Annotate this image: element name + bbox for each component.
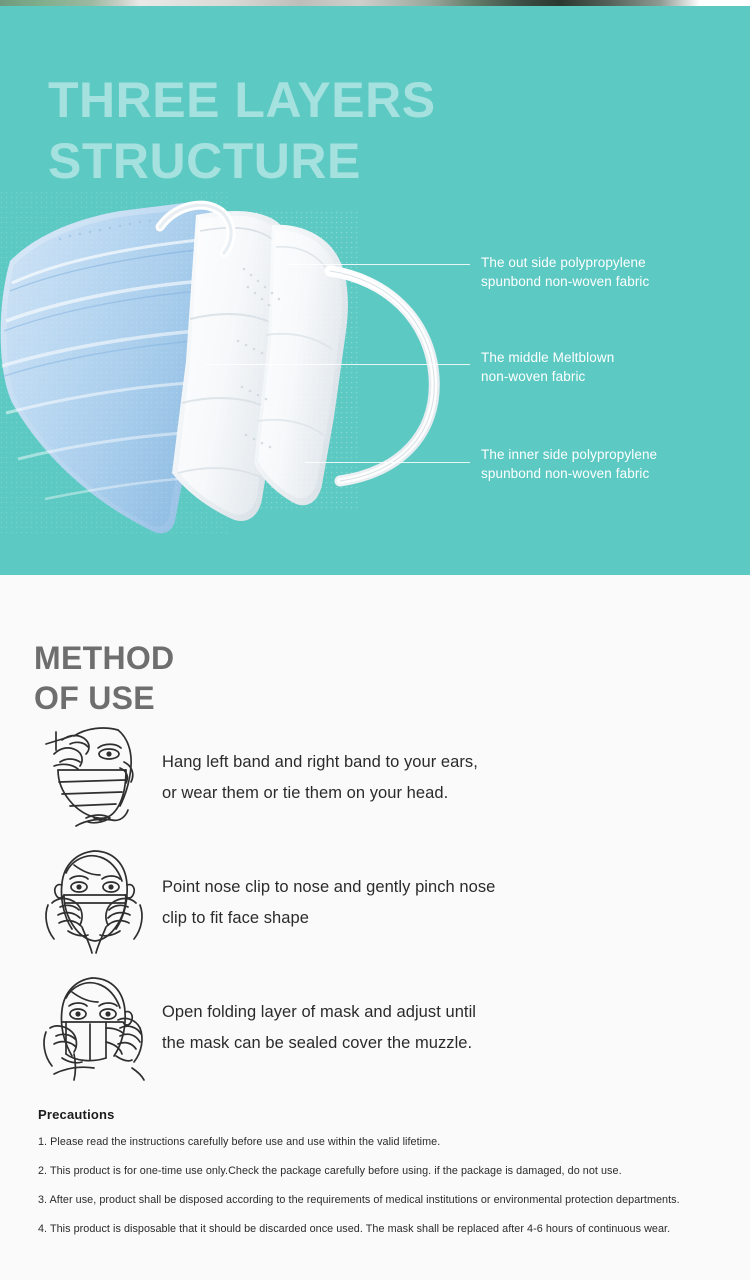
method-step: Point nose clip to nose and gently pinch… [0, 840, 750, 965]
method-of-use-section: METHOD OF USE [0, 575, 750, 1280]
method-step-text: Open folding layer of mask and adjust un… [162, 997, 476, 1058]
leader-line-outer-layer [288, 264, 470, 265]
method-step: Open folding layer of mask and adjust un… [0, 965, 750, 1090]
callout-outer-layer: The out side polypropylene spunbond non-… [481, 254, 721, 291]
precaution-item: 1. Please read the instructions carefull… [38, 1135, 738, 1150]
precautions-block: Precautions 1. Please read the instructi… [38, 1107, 738, 1251]
method-steps-list: Hang left band and right band to your ea… [0, 715, 750, 1090]
three-layers-structure-section: THREE LAYERS STRUCTURE [0, 6, 750, 575]
previous-image-sliver [0, 0, 750, 6]
method-step: Hang left band and right band to your ea… [0, 715, 750, 840]
previous-image-sliver-right [700, 0, 750, 6]
precaution-item: 4. This product is disposable that it sh… [38, 1222, 738, 1237]
leader-line-middle-layer [205, 364, 470, 365]
leader-line-inner-layer [305, 462, 470, 463]
precaution-item: 2. This product is for one-time use only… [38, 1164, 738, 1179]
callout-inner-layer: The inner side polypropylene spunbond no… [481, 446, 721, 483]
callout-middle-layer: The middle Meltblown non-woven fabric [481, 349, 721, 386]
precaution-item: 3. After use, product shall be disposed … [38, 1193, 738, 1208]
open-folding-layer-icon [28, 969, 158, 1087]
page-title: THREE LAYERS STRUCTURE [48, 70, 668, 192]
precautions-title: Precautions [38, 1107, 738, 1122]
product-detail-page: THREE LAYERS STRUCTURE [0, 0, 750, 1280]
method-of-use-title: METHOD OF USE [34, 638, 434, 718]
pinch-nose-clip-icon [28, 844, 158, 962]
method-step-text: Point nose clip to nose and gently pinch… [162, 872, 495, 933]
mask-hang-ear-loops-icon [28, 719, 158, 837]
method-step-text: Hang left band and right band to your ea… [162, 747, 478, 808]
